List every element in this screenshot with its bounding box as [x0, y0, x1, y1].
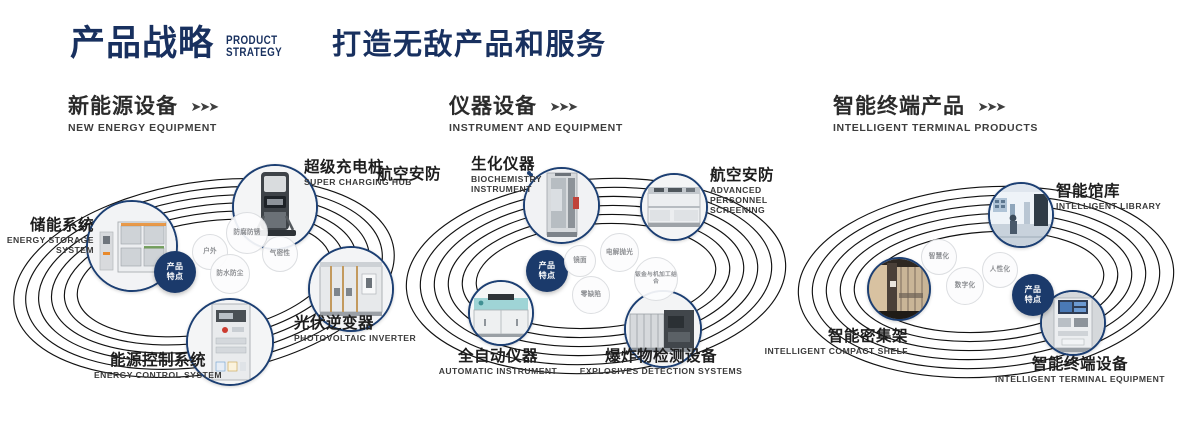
cluster-new-energy: 储能系统 ENERGY STORAGE SYSTEM 超级充电桩 SUPER C… — [8, 150, 408, 410]
core-label-line1: 产品 — [1025, 285, 1042, 295]
node-label-en: INTELLIGENT COMPACT SHELF — [728, 347, 908, 357]
section-title-en: NEW ENERGY EQUIPMENT — [68, 122, 217, 134]
masthead: 产品战略 PRODUCT STRATEGY — [70, 26, 294, 61]
chevrons-right-icon: ➤➤➤ — [190, 99, 217, 115]
label-automatic-instrument: 全自动仪器 AUTOMATIC INSTRUMENT — [388, 348, 608, 377]
feature-bubble-anticorrosion: 防腐防锈 — [226, 212, 268, 254]
feature-bubble-waterproof: 防水防尘 — [210, 254, 250, 294]
node-label-cn: 储能系统 — [2, 217, 94, 234]
screening-machine-icon — [642, 175, 706, 239]
feature-bubble-label: 电解抛光 — [606, 249, 633, 257]
feature-bubble-zero-defect: 零缺陷 — [572, 276, 610, 314]
automatic-analyzer-icon — [470, 282, 532, 344]
section-title-cn: 智能终端产品 — [833, 95, 965, 118]
masthead-slogan: 打造无敌产品和服务 — [332, 31, 607, 60]
node-label-cn: 全自动仪器 — [388, 348, 608, 365]
feature-bubble-electropolishing: 电解抛光 — [600, 233, 639, 272]
node-advanced-personnel-screening[interactable] — [640, 173, 708, 241]
core-bubble-product-features: 产品 特点 — [154, 251, 196, 293]
node-label-en: INTELLIGENT LIBRARY — [1056, 202, 1161, 212]
chevrons-right-icon: ➤➤➤ — [549, 99, 576, 115]
node-label-en: INTELLIGENT TERMINAL EQUIPMENT — [970, 375, 1190, 385]
label-energy-control-system: 能源控制系统 ENERGY CONTROL SYSTEM — [58, 352, 258, 381]
core-label-line1: 产品 — [539, 261, 556, 271]
node-label-en: ADVANCED PERSONNEL SCREENING — [710, 186, 794, 215]
label-aerospace-security-aside: 航空安防 — [356, 166, 441, 183]
node-automatic-instrument[interactable] — [468, 280, 534, 346]
section-header-intelligent-terminal: 智能终端产品 ➤➤➤ INTELLIGENT TERMINAL PRODUCTS — [833, 95, 1038, 134]
library-hall-icon — [990, 184, 1052, 246]
section-title-cn: 仪器设备 — [449, 95, 537, 118]
feature-bubble-digitalization: 数字化 — [946, 267, 984, 305]
node-label-en: ENERGY STORAGE SYSTEM — [2, 236, 94, 255]
node-label-cn: 航空安防 — [710, 167, 794, 184]
feature-bubble-airtight: 气密性 — [262, 236, 298, 272]
section-header-instrument: 仪器设备 ➤➤➤ INSTRUMENT AND EQUIPMENT — [449, 95, 623, 134]
feature-bubble-label: 钣金与机加工结合 — [635, 272, 677, 286]
product-strategy-infographic: 产品战略 PRODUCT STRATEGY 打造无敌产品和服务 新能源设备 ➤➤… — [0, 0, 1200, 422]
section-title-cn: 新能源设备 — [68, 95, 178, 118]
core-bubble-product-features: 产品 特点 — [1012, 274, 1054, 316]
masthead-title-en: PRODUCT STRATEGY — [226, 34, 282, 59]
feature-bubble-intelligence: 智慧化 — [921, 239, 957, 275]
masthead-title-en-line1: PRODUCT — [226, 34, 282, 47]
feature-bubble-mirror-finish: 镜面 — [564, 245, 596, 277]
masthead-title-en-line2: STRATEGY — [226, 46, 282, 59]
core-bubble-product-features: 产品 特点 — [526, 250, 568, 292]
feature-bubble-sheetmetal-machining: 钣金与机加工结合 — [634, 257, 678, 301]
node-label-en: AUTOMATIC INSTRUMENT — [388, 367, 608, 377]
core-label-line2: 特点 — [1025, 295, 1042, 305]
label-intelligent-library: 智能馆库 INTELLIGENT LIBRARY — [1056, 183, 1161, 212]
node-label-cn: 智能密集架 — [728, 328, 908, 345]
core-label-line2: 特点 — [539, 271, 556, 281]
section-title-en: INSTRUMENT AND EQUIPMENT — [449, 122, 623, 134]
core-label-line2: 特点 — [167, 272, 184, 282]
node-intelligent-compact-shelf[interactable] — [867, 257, 931, 321]
core-label-line1: 产品 — [167, 262, 184, 272]
label-energy-storage-system: 储能系统 ENERGY STORAGE SYSTEM — [2, 217, 94, 256]
node-intelligent-library[interactable] — [988, 182, 1054, 248]
label-intelligent-compact-shelf: 智能密集架 INTELLIGENT COMPACT SHELF — [728, 328, 908, 357]
compact-shelf-icon — [869, 259, 929, 319]
feature-bubble-label: 防水防尘 — [216, 270, 243, 278]
label-advanced-personnel-screening: 航空安防 ADVANCED PERSONNEL SCREENING — [710, 167, 794, 215]
node-label-en: BIOCHEMISTRY INSTRUMENT — [471, 175, 527, 194]
masthead-title-cn: 产品战略 — [70, 26, 214, 61]
section-title-en: INTELLIGENT TERMINAL PRODUCTS — [833, 122, 1038, 134]
node-label-cn: 能源控制系统 — [58, 352, 258, 369]
feature-bubble-humanization: 人性化 — [982, 252, 1018, 288]
node-label-cn: 智能终端设备 — [970, 356, 1190, 373]
feature-bubble-label: 防腐防锈 — [233, 229, 260, 237]
section-header-new-energy: 新能源设备 ➤➤➤ NEW ENERGY EQUIPMENT — [68, 95, 217, 134]
node-label-cn: 生化仪器 — [471, 156, 535, 173]
node-label-cn: 智能馆库 — [1056, 183, 1161, 200]
chevrons-right-icon: ➤➤➤ — [977, 99, 1004, 115]
node-label-en: ENERGY CONTROL SYSTEM — [58, 371, 258, 381]
label-biochemistry-instrument: 生化仪器 BIOCHEMISTRY INSTRUMENT — [471, 156, 535, 195]
cluster-instrument: 生化仪器 BIOCHEMISTRY INSTRUMENT 航空安防 航空安防 A… — [396, 150, 796, 410]
aside-label-cn: 航空安防 — [356, 166, 441, 183]
cluster-intelligent-terminal: 智能馆库 INTELLIGENT LIBRARY 智能密集架 INTELLIGE… — [790, 150, 1190, 410]
label-intelligent-terminal-equipment: 智能终端设备 INTELLIGENT TERMINAL EQUIPMENT — [970, 356, 1190, 385]
